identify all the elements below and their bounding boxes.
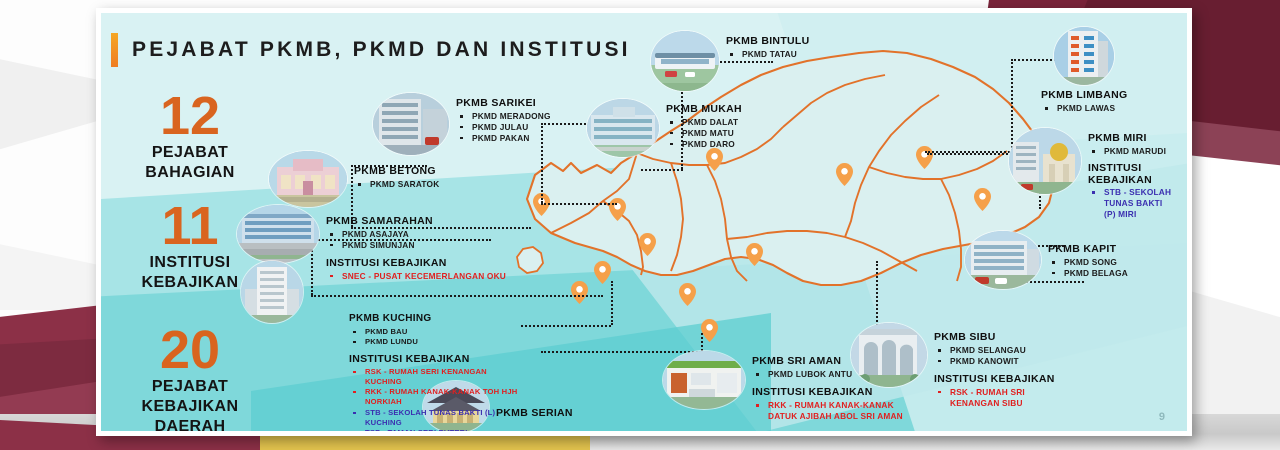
connector-bintulu-h2 [641, 169, 683, 171]
office-block-kuching[interactable]: PKMB KUCHING PKMD BAU PKMD LUNDU INSTITU… [349, 313, 524, 431]
map-pin-kuching[interactable] [594, 261, 611, 284]
office-item: PKMD KANOWIT [934, 356, 1070, 367]
connector-sarikei-h2 [541, 203, 617, 205]
office-title: PKMB SIBU [934, 331, 1070, 344]
stat-pejabat-bahagian: 12 PEJABAT BAHAGIAN [115, 91, 265, 182]
map-pin-kapit[interactable] [974, 188, 991, 211]
map-pin-samarahan[interactable] [639, 233, 656, 256]
map-pin-sibu[interactable] [746, 243, 763, 266]
office-block-kuching-thumb[interactable] [241, 261, 303, 323]
office-item: PKMD MATU [666, 128, 742, 139]
map-pin-miri[interactable] [916, 146, 933, 169]
white-office-complex-photo [965, 231, 1041, 289]
map-pin-serian[interactable] [679, 283, 696, 306]
office-title: PKMB SARIKEI [456, 97, 551, 110]
stat-label-line1: PEJABAT [115, 144, 265, 162]
office-item-list: PKMD MERADONG PKMD JULAU PKMD PAKAN [456, 111, 551, 143]
institusi-item: STB - SEKOLAH TUNAS BAKTI (L) KUCHING [349, 408, 524, 428]
map-pin-lundu[interactable] [571, 281, 588, 304]
office-block-limbang[interactable]: PKMB LIMBANG PKMD LAWAS [1041, 27, 1127, 114]
office-block-betong[interactable]: PKMB BETONG PKMD SARATOK [269, 151, 439, 207]
office-item-list: PKMD TATAU [726, 49, 810, 60]
stat-label-line1: PEJABAT [115, 378, 265, 396]
office-item: PKMD DARO [666, 139, 742, 150]
office-item: PKMD JULAU [456, 122, 551, 133]
institusi-title-line1: INSTITUSI [1088, 162, 1176, 174]
office-title: PKMB MUKAH [666, 103, 742, 116]
connector-samarahan-h2 [311, 295, 603, 297]
office-title: PKMB KUCHING [349, 313, 524, 326]
institusi-title-line2: KEBAJIKAN [1088, 174, 1176, 186]
office-title: PKMB LIMBANG [1041, 89, 1127, 102]
institusi-item: RSK - RUMAH SRI KENANGAN SIBU [934, 387, 1070, 409]
office-title: PKMB BETONG [354, 165, 439, 178]
colourful-tower-building-photo [1054, 27, 1114, 85]
office-item: PKMD LUBOK ANTU [752, 369, 920, 380]
institusi-title: INSTITUSI KEBAJIKAN [934, 373, 1070, 386]
slide-stage: PEJABAT PKMB, PKMD DAN INSTITUSI 12 PEJA… [0, 0, 1280, 450]
office-item: PKMD SARATOK [354, 179, 439, 190]
stat-number: 20 [115, 325, 265, 376]
map-pin-bintulu[interactable] [836, 163, 853, 186]
institusi-item: RSK - RUMAH SERI KENANGAN KUCHING [349, 367, 524, 387]
office-title: PKMB SRI AMAN [752, 355, 920, 368]
office-block-bintulu[interactable]: PKMB BINTULU PKMD TATAU [651, 31, 810, 91]
office-item-list: PKMD BAU PKMD LUNDU [349, 327, 524, 347]
title-accent-bar [111, 33, 118, 67]
office-item: PKMD BAU [349, 327, 524, 337]
pink-government-building-photo [269, 151, 347, 207]
office-item: PKMD SIMUNJAN [326, 240, 506, 251]
office-item: PKMD SELANGAU [934, 345, 1070, 356]
institusi-item-list-blue: STB - SEKOLAH TUNAS BAKTI (L) KUCHING TS… [349, 408, 524, 431]
green-roofed-house-photo [663, 351, 745, 409]
office-item: PKMD LUNDU [349, 337, 524, 347]
institusi-item-list: STB - SEKOLAH TUNAS BAKTI (P) MIRI [1088, 187, 1176, 219]
map-pin-sarikei[interactable] [609, 198, 626, 221]
grey-office-block-photo [373, 93, 449, 155]
institusi-item-list: RSK - RUMAH SRI KENANGAN SIBU [934, 387, 1070, 409]
office-item-list: PKMD SELANGAU PKMD KANOWIT [934, 345, 1070, 367]
stat-label-line3: DAERAH [115, 418, 265, 431]
blue-campus-building-photo [237, 205, 319, 263]
map-pin-sri-aman[interactable] [701, 319, 718, 342]
stat-label-line2: KEBAJIKAN [115, 398, 265, 416]
stat-number: 12 [115, 91, 265, 142]
office-item: PKMD MARUDI [1088, 146, 1176, 157]
office-item: PKMD MERADONG [456, 111, 551, 122]
office-block-sarikei[interactable]: PKMB SARIKEI PKMD MERADONG PKMD JULAU PK… [373, 93, 551, 155]
office-item-list: PKMD SONG PKMD BELAGA [1048, 257, 1128, 279]
institusi-item: RKK - RUMAH KANAK-KANAK TOH HJH NORKIAH [349, 387, 524, 407]
connector-serian-h [521, 325, 611, 327]
institusi-title: INSTITUSI KEBAJIKAN [349, 353, 524, 366]
office-item-list: PKMD LAWAS [1041, 103, 1127, 114]
institusi-item-list-red: RSK - RUMAH SERI KENANGAN KUCHING RKK - … [349, 367, 524, 407]
office-item: PKMD PAKAN [456, 133, 551, 144]
institusi-item: SNEC - PUSAT KECEMERLANGAN OKU [326, 271, 506, 282]
institusi-item-list: RKK - RUMAH KANAK-KANAK DATUK AJIBAH ABO… [752, 400, 920, 422]
office-block-kapit[interactable]: PKMB KAPIT PKMD SONG PKMD BELAGA [965, 231, 1128, 289]
office-item: PKMD SONG [1048, 257, 1128, 268]
office-block-miri[interactable]: PKMB MIRI PKMD MARUDI INSTITUSI KEBAJIKA… [1009, 128, 1176, 219]
stat-pejabat-kebajikan-daerah: 20 PEJABAT KEBAJIKAN DAERAH [115, 325, 265, 431]
office-title: PKMB KAPIT [1048, 243, 1128, 256]
slide-card: PEJABAT PKMB, PKMD DAN INSTITUSI 12 PEJA… [96, 8, 1192, 436]
institusi-item: RKK - RUMAH KANAK-KANAK DATUK AJIBAH ABO… [752, 400, 920, 422]
office-title: PKMB SAMARAHAN [326, 215, 506, 228]
institusi-title: INSTITUSI KEBAJIKAN [752, 386, 920, 399]
office-item: PKMD TATAU [726, 49, 810, 60]
office-item-list: PKMD ASAJAYA PKMD SIMUNJAN [326, 229, 506, 251]
institusi-title: INSTITUSI KEBAJIKAN [326, 257, 506, 270]
stat-label-line2: BAHAGIAN [115, 164, 265, 182]
white-tower-block-photo [241, 261, 303, 323]
office-item: PKMD BELAGA [1048, 268, 1128, 279]
connector-sriaman-v [701, 333, 703, 351]
mosque-and-towers-photo [1009, 128, 1081, 194]
office-block-sri-aman[interactable]: PKMB SRI AMAN PKMD LUBOK ANTU INSTITUSI … [663, 351, 920, 422]
institusi-item: TSP - TAMAN SERI PUTERI [349, 428, 524, 431]
office-item: PKMD DALAT [666, 117, 742, 128]
office-item-list: PKMD LUBOK ANTU [752, 369, 920, 380]
institusi-item: STB - SEKOLAH TUNAS BAKTI (P) MIRI [1088, 187, 1176, 219]
office-block-mukah[interactable]: PKMB MUKAH PKMD DALAT PKMD MATU PKMD DAR… [587, 99, 742, 157]
office-item: PKMD ASAJAYA [326, 229, 506, 240]
page-number: 9 [1159, 411, 1165, 423]
airport-terminal-photo [651, 31, 719, 91]
office-item: PKMD LAWAS [1041, 103, 1127, 114]
connector-serian-v [611, 281, 613, 325]
office-item-list: PKMD MARUDI [1088, 146, 1176, 157]
modern-glass-office-photo [587, 99, 659, 157]
office-item-list: PKMD SARATOK [354, 179, 439, 190]
office-title: PKMB BINTULU [726, 35, 810, 48]
office-title: PKMB MIRI [1088, 132, 1176, 145]
office-item-list: PKMD DALAT PKMD MATU PKMD DARO [666, 117, 742, 149]
institusi-item-list: SNEC - PUSAT KECEMERLANGAN OKU [326, 271, 506, 282]
